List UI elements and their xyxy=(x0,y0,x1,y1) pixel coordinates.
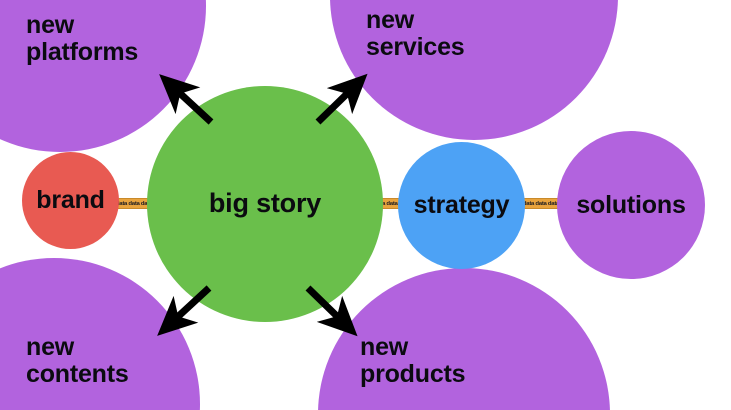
arrow-layer xyxy=(0,0,731,410)
arrow-to-new-products xyxy=(308,288,345,324)
arrow-to-new-contents xyxy=(170,288,209,324)
arrow-to-new-platforms xyxy=(172,86,211,122)
arrow-to-new-services xyxy=(318,86,355,122)
diagram-canvas: new platforms new services new contents … xyxy=(0,0,731,410)
